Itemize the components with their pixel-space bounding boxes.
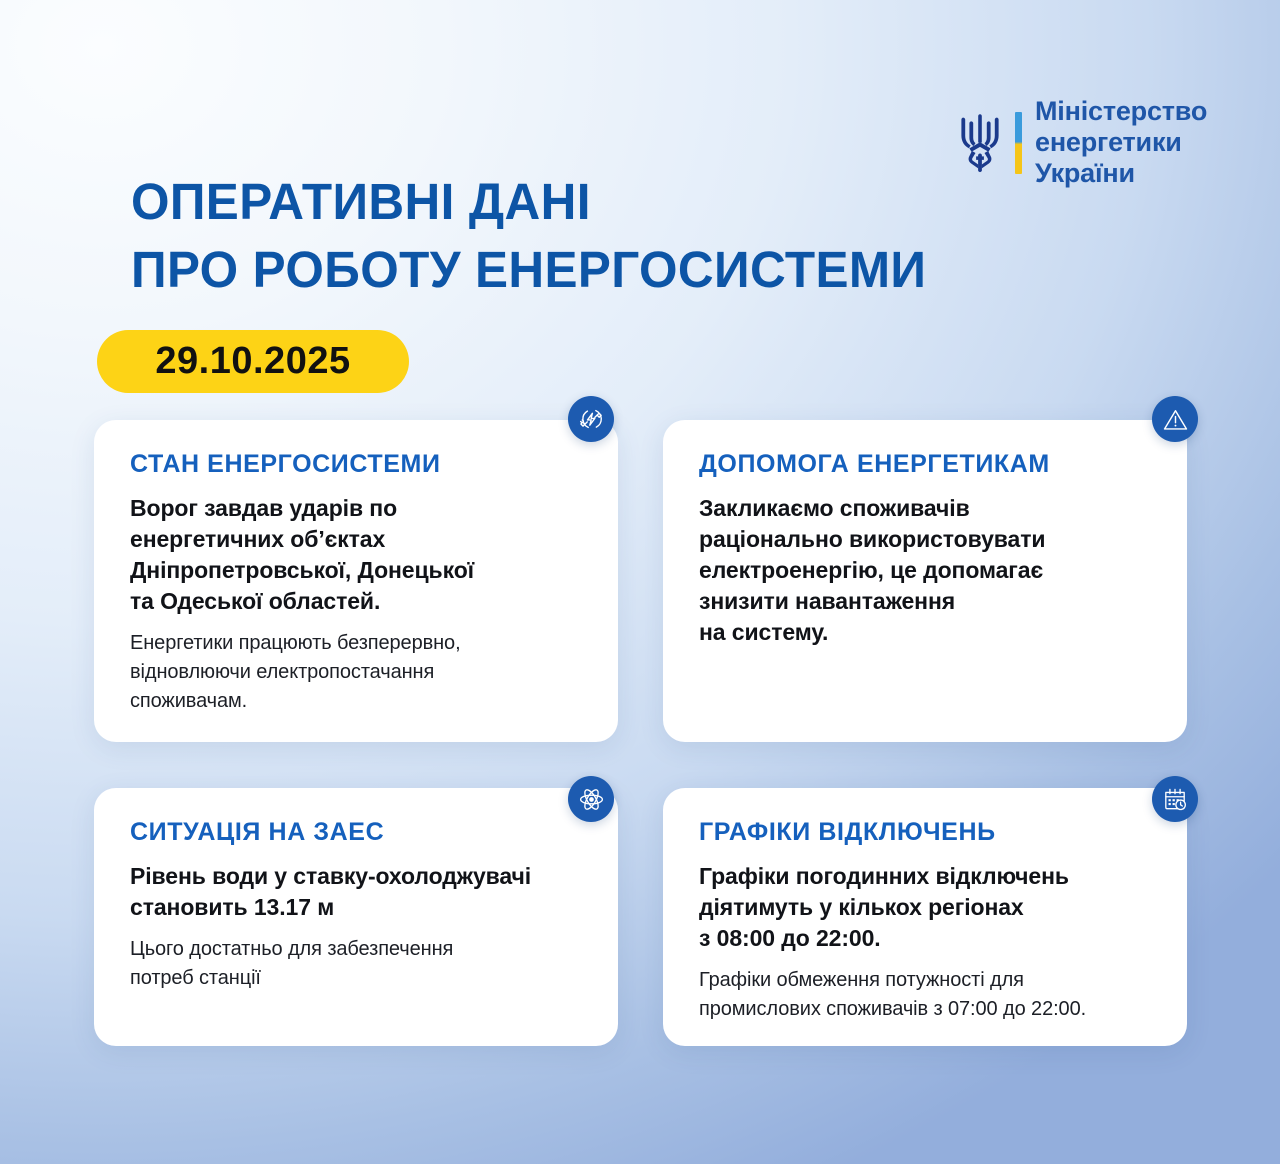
calendar-clock-icon bbox=[1152, 776, 1198, 822]
card-sub-text: Графіки обмеження потужності для промисл… bbox=[699, 966, 1153, 1024]
card-lead-text: Рівень води у ставку-охолоджувачі станов… bbox=[130, 861, 584, 923]
card-outage-schedules: ГРАФІКИ ВІДКЛЮЧЕНЬ Графіки погодинних ві… bbox=[663, 788, 1187, 1046]
flag-divider-bar bbox=[1015, 112, 1022, 174]
card-lead-text: Графіки погодинних відключень діятимуть … bbox=[699, 861, 1153, 954]
atom-icon bbox=[568, 776, 614, 822]
ukraine-trident-icon bbox=[958, 112, 1002, 174]
card-lead-text: Закликаємо споживачів раціонально викори… bbox=[699, 493, 1153, 648]
ministry-logo: Міністерство енергетики України bbox=[958, 96, 1207, 189]
card-heading: ДОПОМОГА ЕНЕРГЕТИКАМ bbox=[699, 450, 1153, 479]
card-lead-text: Ворог завдав ударів по енергетичних об’є… bbox=[130, 493, 584, 617]
date-badge: 29.10.2025 bbox=[97, 330, 409, 393]
plug-lightning-icon bbox=[568, 396, 614, 442]
card-sub-text: Цього достатньо для забезпечення потреб … bbox=[130, 935, 584, 993]
card-zaes-situation: СИТУАЦІЯ НА ЗАЕС Рівень води у ставку-ох… bbox=[94, 788, 618, 1046]
card-help-energy-workers: ДОПОМОГА ЕНЕРГЕТИКАМ Закликаємо споживач… bbox=[663, 420, 1187, 742]
warning-triangle-icon bbox=[1152, 396, 1198, 442]
card-heading: ГРАФІКИ ВІДКЛЮЧЕНЬ bbox=[699, 818, 1153, 847]
card-heading: СИТУАЦІЯ НА ЗАЕС bbox=[130, 818, 584, 847]
infographic-poster: Міністерство енергетики України ОПЕРАТИВ… bbox=[0, 0, 1280, 1164]
date-badge-label: 29.10.2025 bbox=[155, 340, 350, 383]
card-sub-text: Енергетики працюють безперервно, відновл… bbox=[130, 629, 584, 716]
page-title: ОПЕРАТИВНІ ДАНІ ПРО РОБОТУ ЕНЕРГОСИСТЕМИ bbox=[131, 168, 926, 304]
card-heading: СТАН ЕНЕРГОСИСТЕМИ bbox=[130, 450, 584, 479]
card-energy-system-status: СТАН ЕНЕРГОСИСТЕМИ Ворог завдав ударів п… bbox=[94, 420, 618, 742]
ministry-logo-text: Міністерство енергетики України bbox=[1035, 96, 1207, 189]
